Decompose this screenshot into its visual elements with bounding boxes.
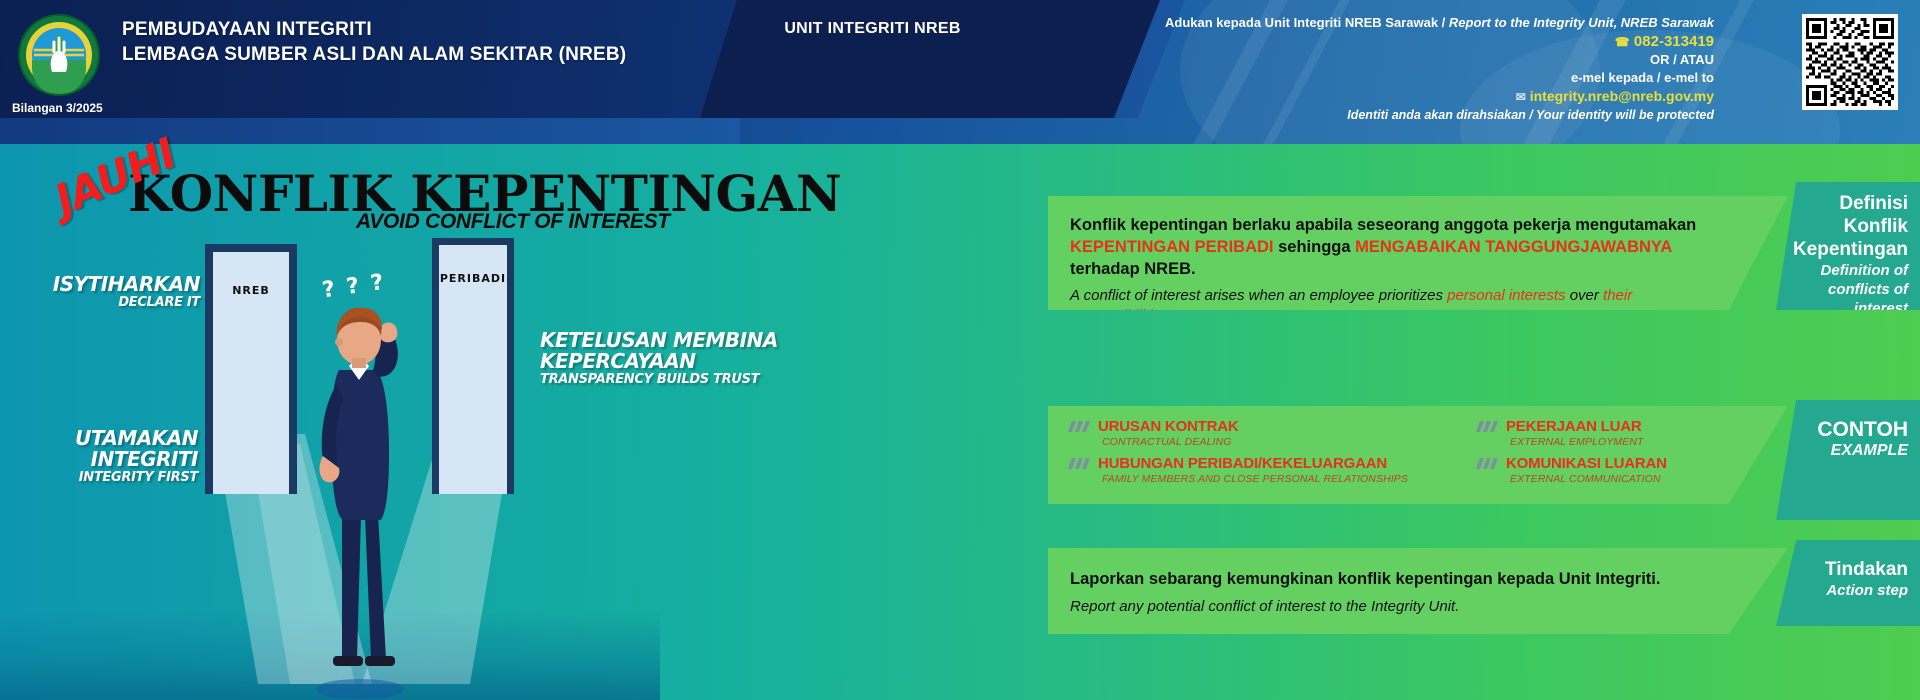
label-isytiharkan-en: DECLARE IT [20, 295, 200, 310]
header-org-title: PEMBUDAYAAN INTEGRITI LEMBAGA SUMBER ASL… [122, 17, 626, 67]
label-isytiharkan: ISYTIHARKAN DECLARE IT [20, 274, 200, 310]
example-item: URUSAN KONTRAK CONTRACTUAL DEALING [1098, 418, 1478, 449]
arrows-icon [1070, 458, 1092, 469]
email-label: e-mel kepada / e-mel to [1074, 69, 1714, 87]
door-nreb[interactable]: NREB [205, 244, 297, 494]
definisi-en-part2: over [1566, 287, 1604, 304]
definisi-en-red1: personal interests [1447, 287, 1565, 304]
door-label-peribadi: PERIBADI [432, 272, 514, 285]
label-isytiharkan-ms: ISYTIHARKAN [20, 274, 200, 295]
or-atau-label: OR / ATAU [1074, 51, 1714, 69]
issue-number: Bilangan 3/2025 [12, 101, 103, 115]
example-en: FAMILY MEMBERS AND CLOSE PERSONAL RELATI… [1098, 473, 1478, 486]
tab-definisi-en-1: Definition of [1793, 261, 1908, 280]
org-line-2: LEMBAGA SUMBER ASLI DAN ALAM SEKITAR (NR… [122, 42, 626, 67]
unit-integriti-badge: UNIT INTEGRITI NREB [700, 20, 1045, 38]
arrows-icon [1478, 421, 1500, 432]
email-line[interactable]: ✉ integrity.nreb@nreb.gov.my [1074, 87, 1714, 106]
example-ms: URUSAN KONTRAK [1098, 418, 1478, 436]
tab-definisi[interactable]: Definisi Konflik Kepentingan Definition … [1776, 182, 1920, 310]
tab-definisi-en-2: conflicts of [1793, 280, 1908, 299]
definisi-ms-red2: MENGABAIKAN TANGGUNGJAWABNYA [1355, 238, 1672, 256]
door-peribadi[interactable]: PERIBADI [432, 238, 514, 494]
panel-tindakan-content: Laporkan sebarang kemungkinan konflik ke… [1070, 568, 1730, 617]
door-label-nreb: NREB [205, 284, 297, 297]
definisi-ms-red1: KEPENTINGAN PERIBADI [1070, 238, 1274, 256]
report-label-ms: Adukan kepada Unit Integriti NREB Sarawa… [1165, 15, 1445, 30]
label-utamakan-ms: UTAMAKAN INTEGRITI [0, 428, 198, 470]
panel-definisi: Konflik kepentingan berlaku apabila sese… [1048, 196, 1788, 310]
panel-tindakan: Laporkan sebarang kemungkinan konflik ke… [1048, 548, 1788, 634]
example-ms: HUBUNGAN PERIBADI/KEKELUARGAAN [1098, 455, 1478, 473]
label-utamakan-en: INTEGRITY FIRST [0, 470, 198, 485]
phone-icon: ☎ [1615, 35, 1630, 49]
tab-tindakan-text: Tindakan Action step [1825, 558, 1908, 600]
email-address: integrity.nreb@nreb.gov.my [1530, 88, 1714, 104]
example-item: PEKERJAAN LUAR EXTERNAL EMPLOYMENT [1506, 418, 1806, 449]
panel-definisi-content: Konflik kepentingan berlaku apabila sese… [1070, 214, 1730, 326]
example-item: HUBUNGAN PERIBADI/KEKELUARGAAN FAMILY ME… [1098, 455, 1478, 486]
definisi-ms-part1: Konflik kepentingan berlaku apabila sese… [1070, 216, 1696, 234]
org-line-1: PEMBUDAYAAN INTEGRITI [122, 17, 626, 42]
tab-tindakan-en: Action step [1825, 581, 1908, 600]
arrows-icon [1478, 458, 1500, 469]
tab-definisi-ms-2: Konflik [1793, 215, 1908, 238]
poster-root: PEMBUDAYAAN INTEGRITI LEMBAGA SUMBER ASL… [0, 0, 1920, 700]
label-ketelusan-ms-1: KETELUSAN MEMBINA [540, 330, 840, 351]
example-en: CONTRACTUAL DEALING [1098, 436, 1478, 449]
arrows-icon [1070, 421, 1092, 432]
panel-contoh: URUSAN KONTRAK CONTRACTUAL DEALING HUBUN… [1048, 406, 1788, 504]
label-ketelusan-en: TRANSPARENCY BUILDS TRUST [540, 372, 840, 387]
tab-tindakan[interactable]: Tindakan Action step [1776, 540, 1920, 626]
label-ketelusan-ms-2: KEPERCAYAAN [540, 351, 840, 372]
tab-definisi-text: Definisi Konflik Kepentingan Definition … [1793, 192, 1908, 318]
header-contact-block: Adukan kepada Unit Integriti NREB Sarawa… [1074, 14, 1714, 124]
tindakan-en: Report any potential conflict of interes… [1070, 597, 1730, 617]
definisi-ms: Konflik kepentingan berlaku apabila sese… [1070, 214, 1730, 280]
tab-contoh-text: CONTOH EXAMPLE [1817, 418, 1908, 460]
mail-icon: ✉ [1516, 90, 1526, 104]
tab-tindakan-ms: Tindakan [1825, 558, 1908, 581]
phone-number: 082-313419 [1634, 33, 1714, 50]
header-bottom-strip [0, 118, 740, 144]
tab-definisi-ms-1: Definisi [1793, 192, 1908, 215]
definisi-en-part1: A conflict of interest arises when an em… [1070, 287, 1447, 304]
poster-header: PEMBUDAYAAN INTEGRITI LEMBAGA SUMBER ASL… [0, 0, 1920, 144]
definisi-ms-part2: sehingga [1274, 238, 1356, 256]
tab-definisi-ms-3: Kepentingan [1793, 238, 1908, 261]
tab-contoh-ms: CONTOH [1817, 418, 1908, 441]
tindakan-ms: Laporkan sebarang kemungkinan konflik ke… [1070, 568, 1730, 590]
tab-contoh[interactable]: CONTOH EXAMPLE [1776, 400, 1920, 520]
phone-line[interactable]: ☎ 082-313419 [1074, 33, 1714, 51]
privacy-note: Identiti anda akan dirahsiakan / Your id… [1074, 106, 1714, 124]
qr-code-icon[interactable] [1802, 14, 1898, 110]
tab-contoh-en: EXAMPLE [1817, 441, 1908, 460]
hero-illustration-area: KONFLIK KEPENTINGAN JAUHI AVOID CONFLICT… [0, 144, 860, 700]
confused-man-icon [295, 284, 435, 694]
label-ketelusan: KETELUSAN MEMBINA KEPERCAYAAN TRANSPAREN… [540, 330, 840, 387]
label-utamakan: UTAMAKAN INTEGRITI INTEGRITY FIRST [0, 428, 198, 485]
example-column-left: URUSAN KONTRAK CONTRACTUAL DEALING HUBUN… [1098, 418, 1478, 492]
definisi-ms-part3: terhadap NREB. [1070, 260, 1196, 278]
example-ms: PEKERJAAN LUAR [1506, 418, 1806, 436]
report-label-en: Report to the Integrity Unit, NREB Saraw… [1449, 15, 1714, 30]
nreb-logo-icon [18, 14, 100, 96]
example-en: EXTERNAL EMPLOYMENT [1506, 436, 1806, 449]
report-line: Adukan kepada Unit Integriti NREB Sarawa… [1074, 14, 1714, 32]
